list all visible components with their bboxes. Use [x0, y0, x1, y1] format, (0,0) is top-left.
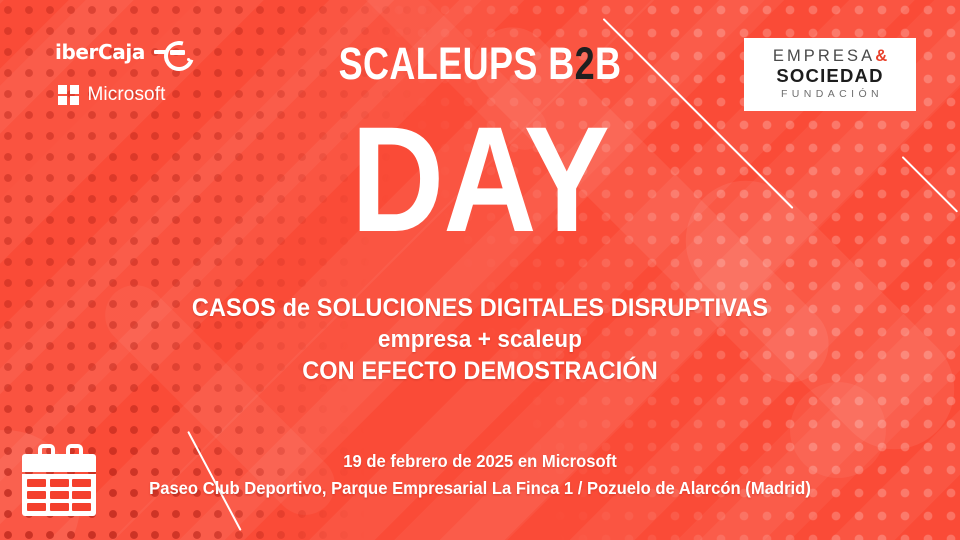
organizer-logo-ampersand: & [875, 47, 887, 65]
event-poster: iberCaja Microsoft EMPRESA& SOCIEDAD FUN… [0, 0, 960, 540]
subtitle-block: CASOS de SOLUCIONES DIGITALES DISRUPTIVA… [0, 292, 960, 387]
hairline-diagonal-2 [901, 156, 958, 213]
organizer-logo-line-3: FUNDACIÓN [777, 88, 883, 101]
page-title-main: DAY [67, 104, 893, 254]
page-title-eyebrow: SCALEUPS B2B [96, 38, 864, 90]
event-venue: Paseo Club Deportivo, Parque Empresarial… [24, 475, 936, 502]
event-details-block: 19 de febrero de 2025 en Microsoft Paseo… [0, 448, 960, 501]
subtitle-line-1: CASOS de SOLUCIONES DIGITALES DISRUPTIVA… [29, 292, 931, 324]
event-date: 19 de febrero de 2025 en Microsoft [24, 448, 936, 475]
title-scaleups-b: SCALEUPS B [339, 38, 575, 89]
subtitle-line-2: empresa + scaleup [29, 324, 931, 355]
title-two-highlight: 2 [575, 38, 595, 89]
title-trailing-b: B [595, 38, 621, 89]
subtitle-line-3: CON EFECTO DEMOSTRACIÓN [29, 355, 931, 387]
microsoft-squares-icon [58, 85, 79, 106]
